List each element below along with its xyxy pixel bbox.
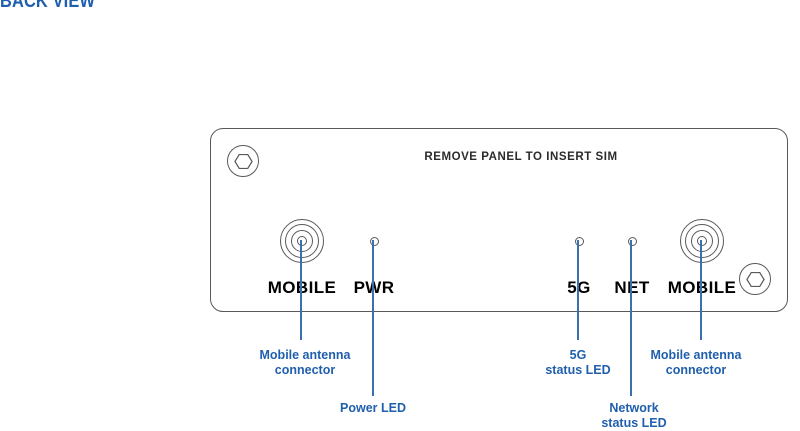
callout-mobile-antenna-right: Mobile antenna connector — [651, 348, 742, 378]
callout-line-1: Power LED — [340, 401, 406, 416]
leader-line-5g — [577, 240, 579, 340]
hexagon-icon — [746, 270, 765, 289]
led-power — [370, 237, 379, 246]
back-view-diagram: BACK VIEW REMOVE PANEL TO INSERT SIM — [0, 0, 800, 431]
callout-line-2: connector — [260, 363, 351, 378]
leader-line-network — [630, 240, 632, 396]
callout-5g-status-led: 5G status LED — [545, 348, 610, 378]
callout-line-2: connector — [651, 363, 742, 378]
page-title: BACK VIEW — [0, 0, 95, 13]
leader-line-mobile-left — [300, 240, 302, 340]
callout-line-1: Mobile antenna — [651, 348, 742, 363]
callout-line-2: status LED — [601, 416, 666, 431]
antenna-connector-mobile-left — [280, 219, 324, 263]
connector-center-pin — [697, 236, 707, 246]
port-label-mobile-left: MOBILE — [268, 278, 337, 298]
leader-line-power — [372, 240, 374, 396]
remove-panel-note: REMOVE PANEL TO INSERT SIM — [381, 151, 661, 163]
led-5g-status — [575, 237, 584, 246]
connector-center-pin — [297, 236, 307, 246]
leader-line-mobile-right — [700, 240, 702, 340]
hex-screw-icon — [739, 263, 771, 295]
port-label-pwr: PWR — [354, 278, 395, 298]
hex-screw-icon — [227, 145, 259, 177]
callout-line-1: Network — [601, 401, 666, 416]
callout-line-1: 5G — [545, 348, 610, 363]
callout-line-2: status LED — [545, 363, 610, 378]
port-label-mobile-right: MOBILE — [668, 278, 737, 298]
callout-mobile-antenna-left: Mobile antenna connector — [260, 348, 351, 378]
callout-line-1: Mobile antenna — [260, 348, 351, 363]
port-label-5g: 5G — [567, 278, 590, 298]
led-network-status — [628, 237, 637, 246]
callout-network-status-led: Network status LED — [601, 401, 666, 431]
hexagon-icon — [234, 152, 253, 171]
port-label-net: NET — [614, 278, 649, 298]
callout-power-led: Power LED — [340, 401, 406, 416]
antenna-connector-mobile-right — [680, 219, 724, 263]
